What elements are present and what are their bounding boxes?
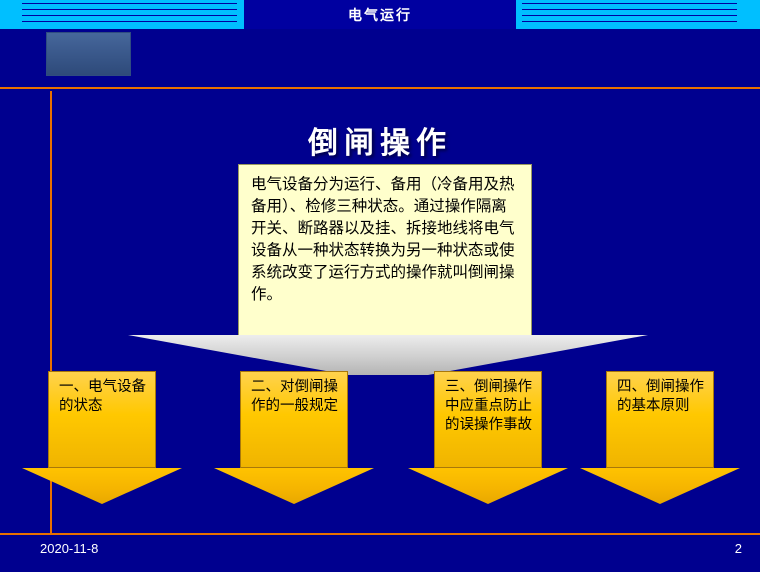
arrow-column-3-label: 三、倒闸操作中应重点防止的误操作事故: [434, 371, 542, 468]
arrow-column-1-label: 一、电气设备的状态: [48, 371, 156, 468]
top-banner: 电气运行: [0, 0, 760, 29]
arrow-column-4[interactable]: 四、倒闸操作的基本原则: [606, 371, 714, 504]
banner-decor-lines-right: [522, 3, 737, 26]
arrow-column-3-head: [408, 468, 568, 504]
chevron-shape: [88, 335, 688, 375]
footer-date: 2020-11-8: [40, 541, 98, 556]
footer-page-number: 2: [735, 541, 742, 556]
arrow-column-3[interactable]: 三、倒闸操作中应重点防止的误操作事故: [434, 371, 542, 504]
arrow-column-2[interactable]: 二、对倒闸操作的一般规定: [240, 371, 348, 504]
banner-title: 电气运行: [244, 0, 516, 29]
banner-decor-lines-left: [22, 3, 237, 26]
arrow-column-1-head: [22, 468, 182, 504]
slide: 电气运行 倒闸操作 电气设备分为运行、备用（冷备用及热备用）、检修三种状态。通过…: [0, 0, 760, 572]
bottom-rule: [0, 533, 760, 535]
arrow-column-1[interactable]: 一、电气设备的状态: [48, 371, 156, 504]
arrow-column-2-head: [214, 468, 374, 504]
arrow-column-4-head: [580, 468, 740, 504]
arrow-column-2-label: 二、对倒闸操作的一般规定: [240, 371, 348, 468]
header-placeholder-box: [46, 32, 131, 76]
page-title: 倒闸操作: [0, 118, 760, 162]
arrow-column-4-label: 四、倒闸操作的基本原则: [606, 371, 714, 468]
main-text-box: 电气设备分为运行、备用（冷备用及热备用）、检修三种状态。通过操作隔离开关、断路器…: [238, 164, 532, 336]
chevron-band: [88, 335, 688, 375]
